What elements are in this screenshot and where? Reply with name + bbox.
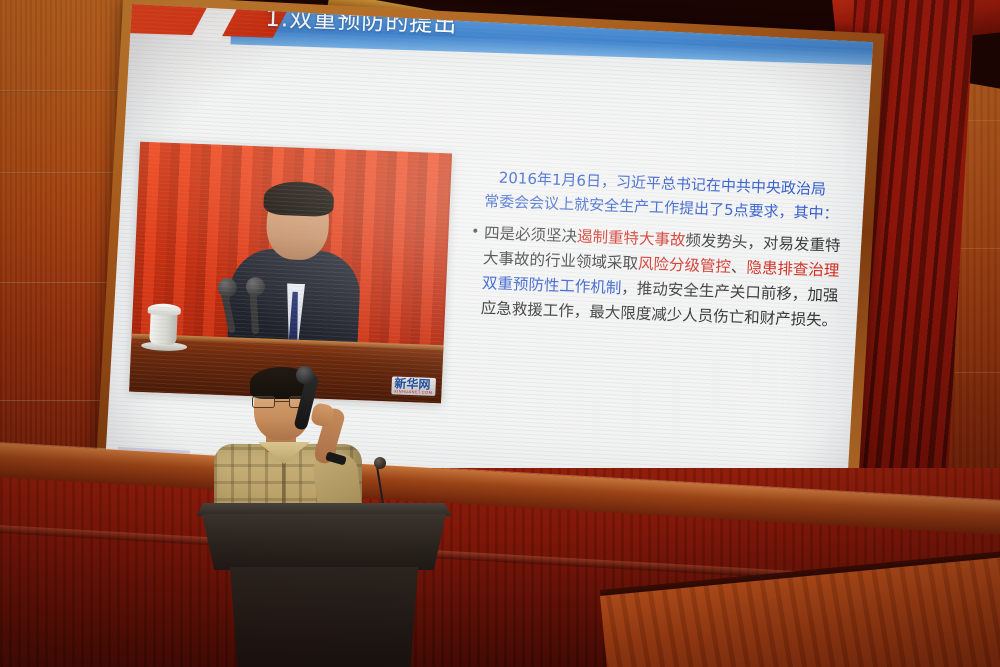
bullet-seg-5: 、	[731, 258, 747, 277]
photo-teacup	[149, 311, 177, 345]
slide-bullet-row: • 四是必须坚决遏制重特大事故频发势头，对易发重特大事故的行业领域采取风险分级管…	[467, 220, 849, 334]
photo-teacup-lid	[148, 303, 181, 315]
bullet-seg-1: 四是必须坚决	[484, 224, 578, 245]
bullet-seg-4-red: 风险分级管控	[638, 254, 732, 275]
bullet-seg-7-blue: 双重预防性工作机制	[482, 274, 622, 297]
xinhua-watermark: 新华网 XINHUANET.COM	[391, 376, 436, 396]
slide-photo: 新华网 XINHUANET.COM	[129, 142, 452, 403]
gooseneck-microphone-head	[374, 457, 386, 469]
podium-base	[226, 567, 422, 667]
podium-front-panel	[202, 514, 446, 570]
bullet-paragraph: 四是必须坚决遏制重特大事故频发势头，对易发重特大事故的行业领域采取风险分级管控、…	[480, 221, 849, 334]
auditorium-scene: 1.双重预防的提出 新华网	[0, 0, 1000, 667]
bullet-seg-6-red: 隐患排查治理	[746, 258, 840, 279]
slide-body-text: 2016年1月6日，习近平总书记在中共中央政治局 常委会会议上就安全生产工作提出…	[467, 165, 851, 334]
watermark-english-text: XINHUANET.COM	[394, 389, 432, 394]
lectern-podium	[196, 503, 452, 667]
bullet-seg-2-red: 遏制重特大事故	[577, 227, 686, 249]
